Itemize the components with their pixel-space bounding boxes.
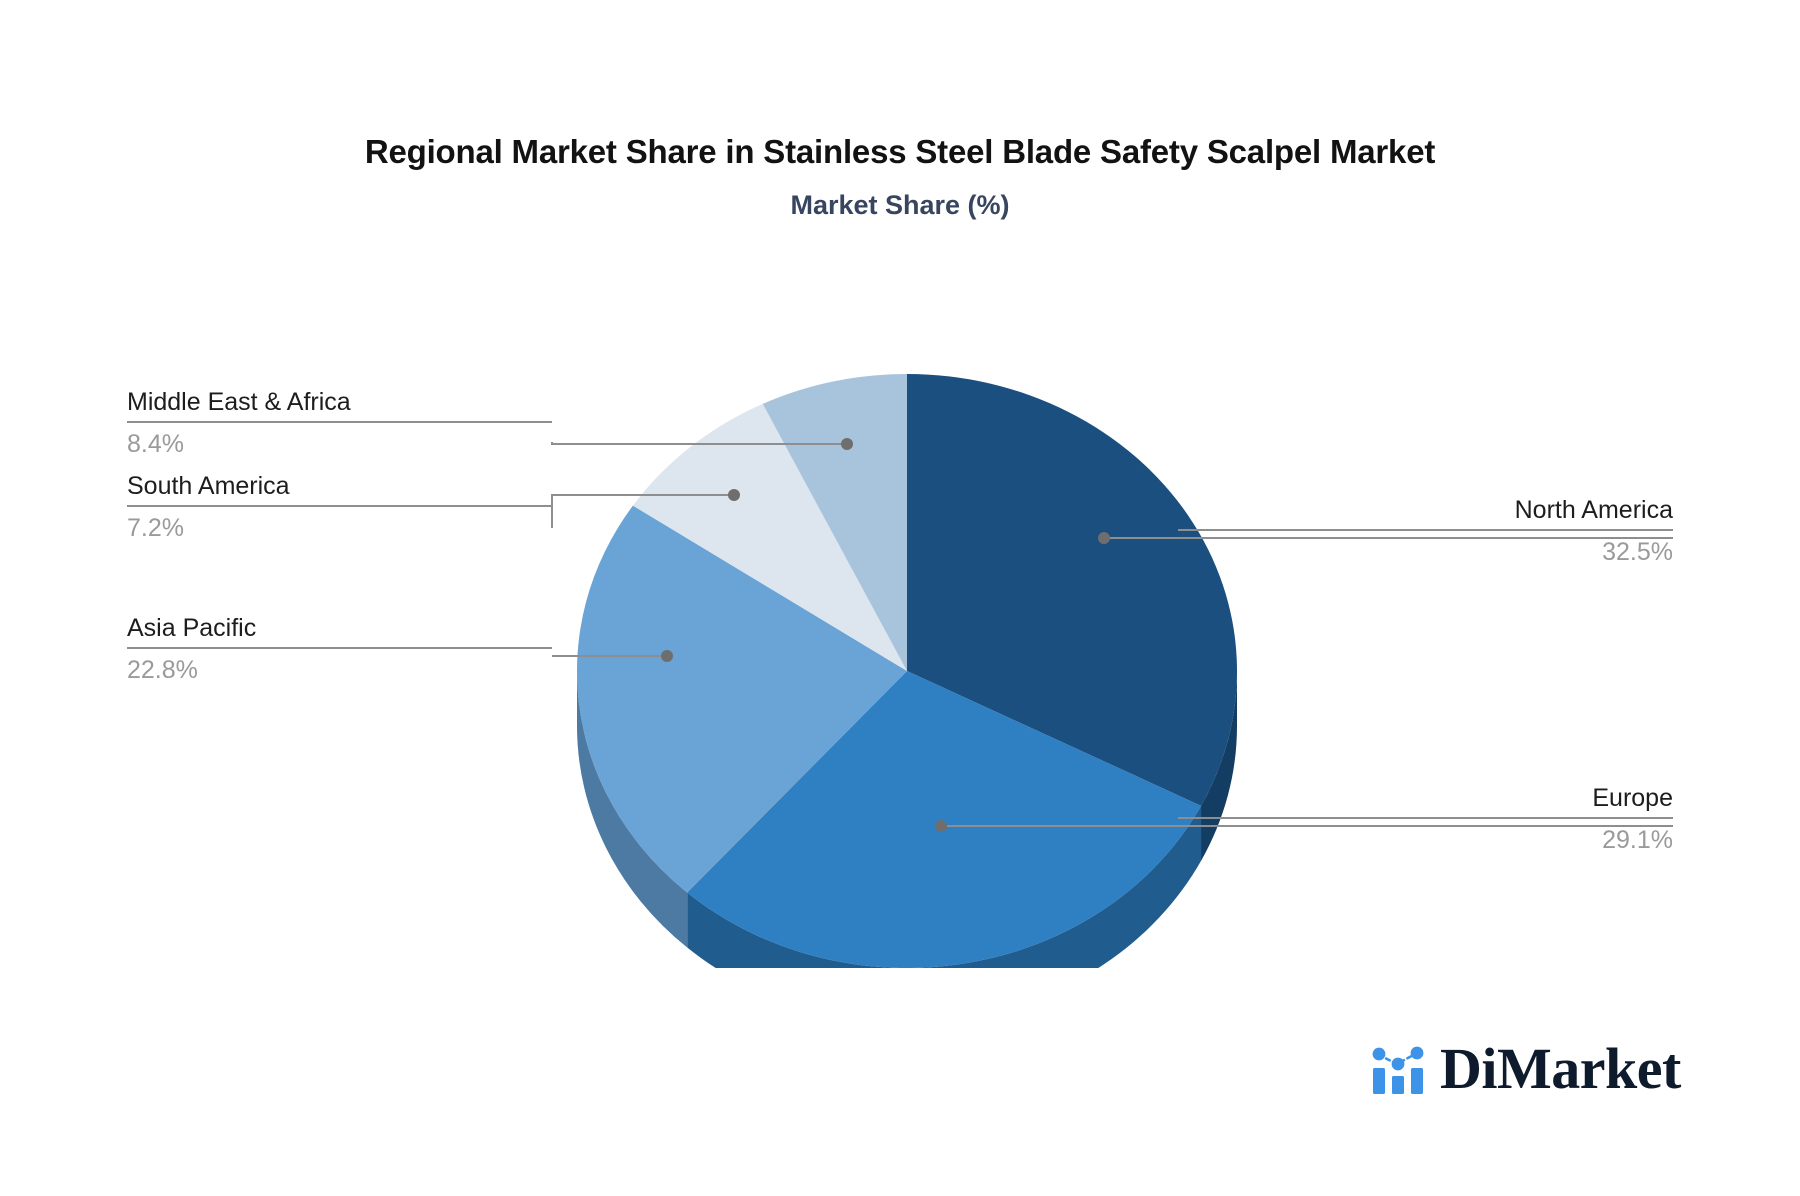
dimarket-wordmark: DiMarket — [1440, 1040, 1681, 1098]
dimarket-logo: DiMarket — [1370, 1040, 1681, 1098]
callout-value: 29.1% — [1178, 819, 1673, 855]
chart-title: Regional Market Share in Stainless Steel… — [0, 133, 1800, 171]
callout-asia-pacific: Asia Pacific 22.8% — [127, 613, 552, 685]
callout-europe: Europe 29.1% — [1178, 783, 1673, 855]
callout-label: North America — [1178, 495, 1673, 525]
callout-label: Middle East & Africa — [127, 387, 552, 417]
callout-value: 7.2% — [127, 507, 552, 543]
callout-south-america: South America 7.2% — [127, 471, 552, 543]
pie-chart — [560, 348, 1260, 968]
pie-slices — [577, 374, 1237, 968]
chart-canvas: Regional Market Share in Stainless Steel… — [0, 0, 1800, 1196]
callout-label: Europe — [1178, 783, 1673, 813]
callout-middle-east-africa: Middle East & Africa 8.4% — [127, 387, 552, 459]
callout-value: 8.4% — [127, 423, 552, 459]
chart-subtitle: Market Share (%) — [0, 190, 1800, 221]
bar-chart-logo-icon — [1370, 1042, 1426, 1096]
callout-north-america: North America 32.5% — [1178, 495, 1673, 567]
callout-label: South America — [127, 471, 552, 501]
callout-value: 22.8% — [127, 649, 552, 685]
callout-value: 32.5% — [1178, 531, 1673, 567]
callout-label: Asia Pacific — [127, 613, 552, 643]
